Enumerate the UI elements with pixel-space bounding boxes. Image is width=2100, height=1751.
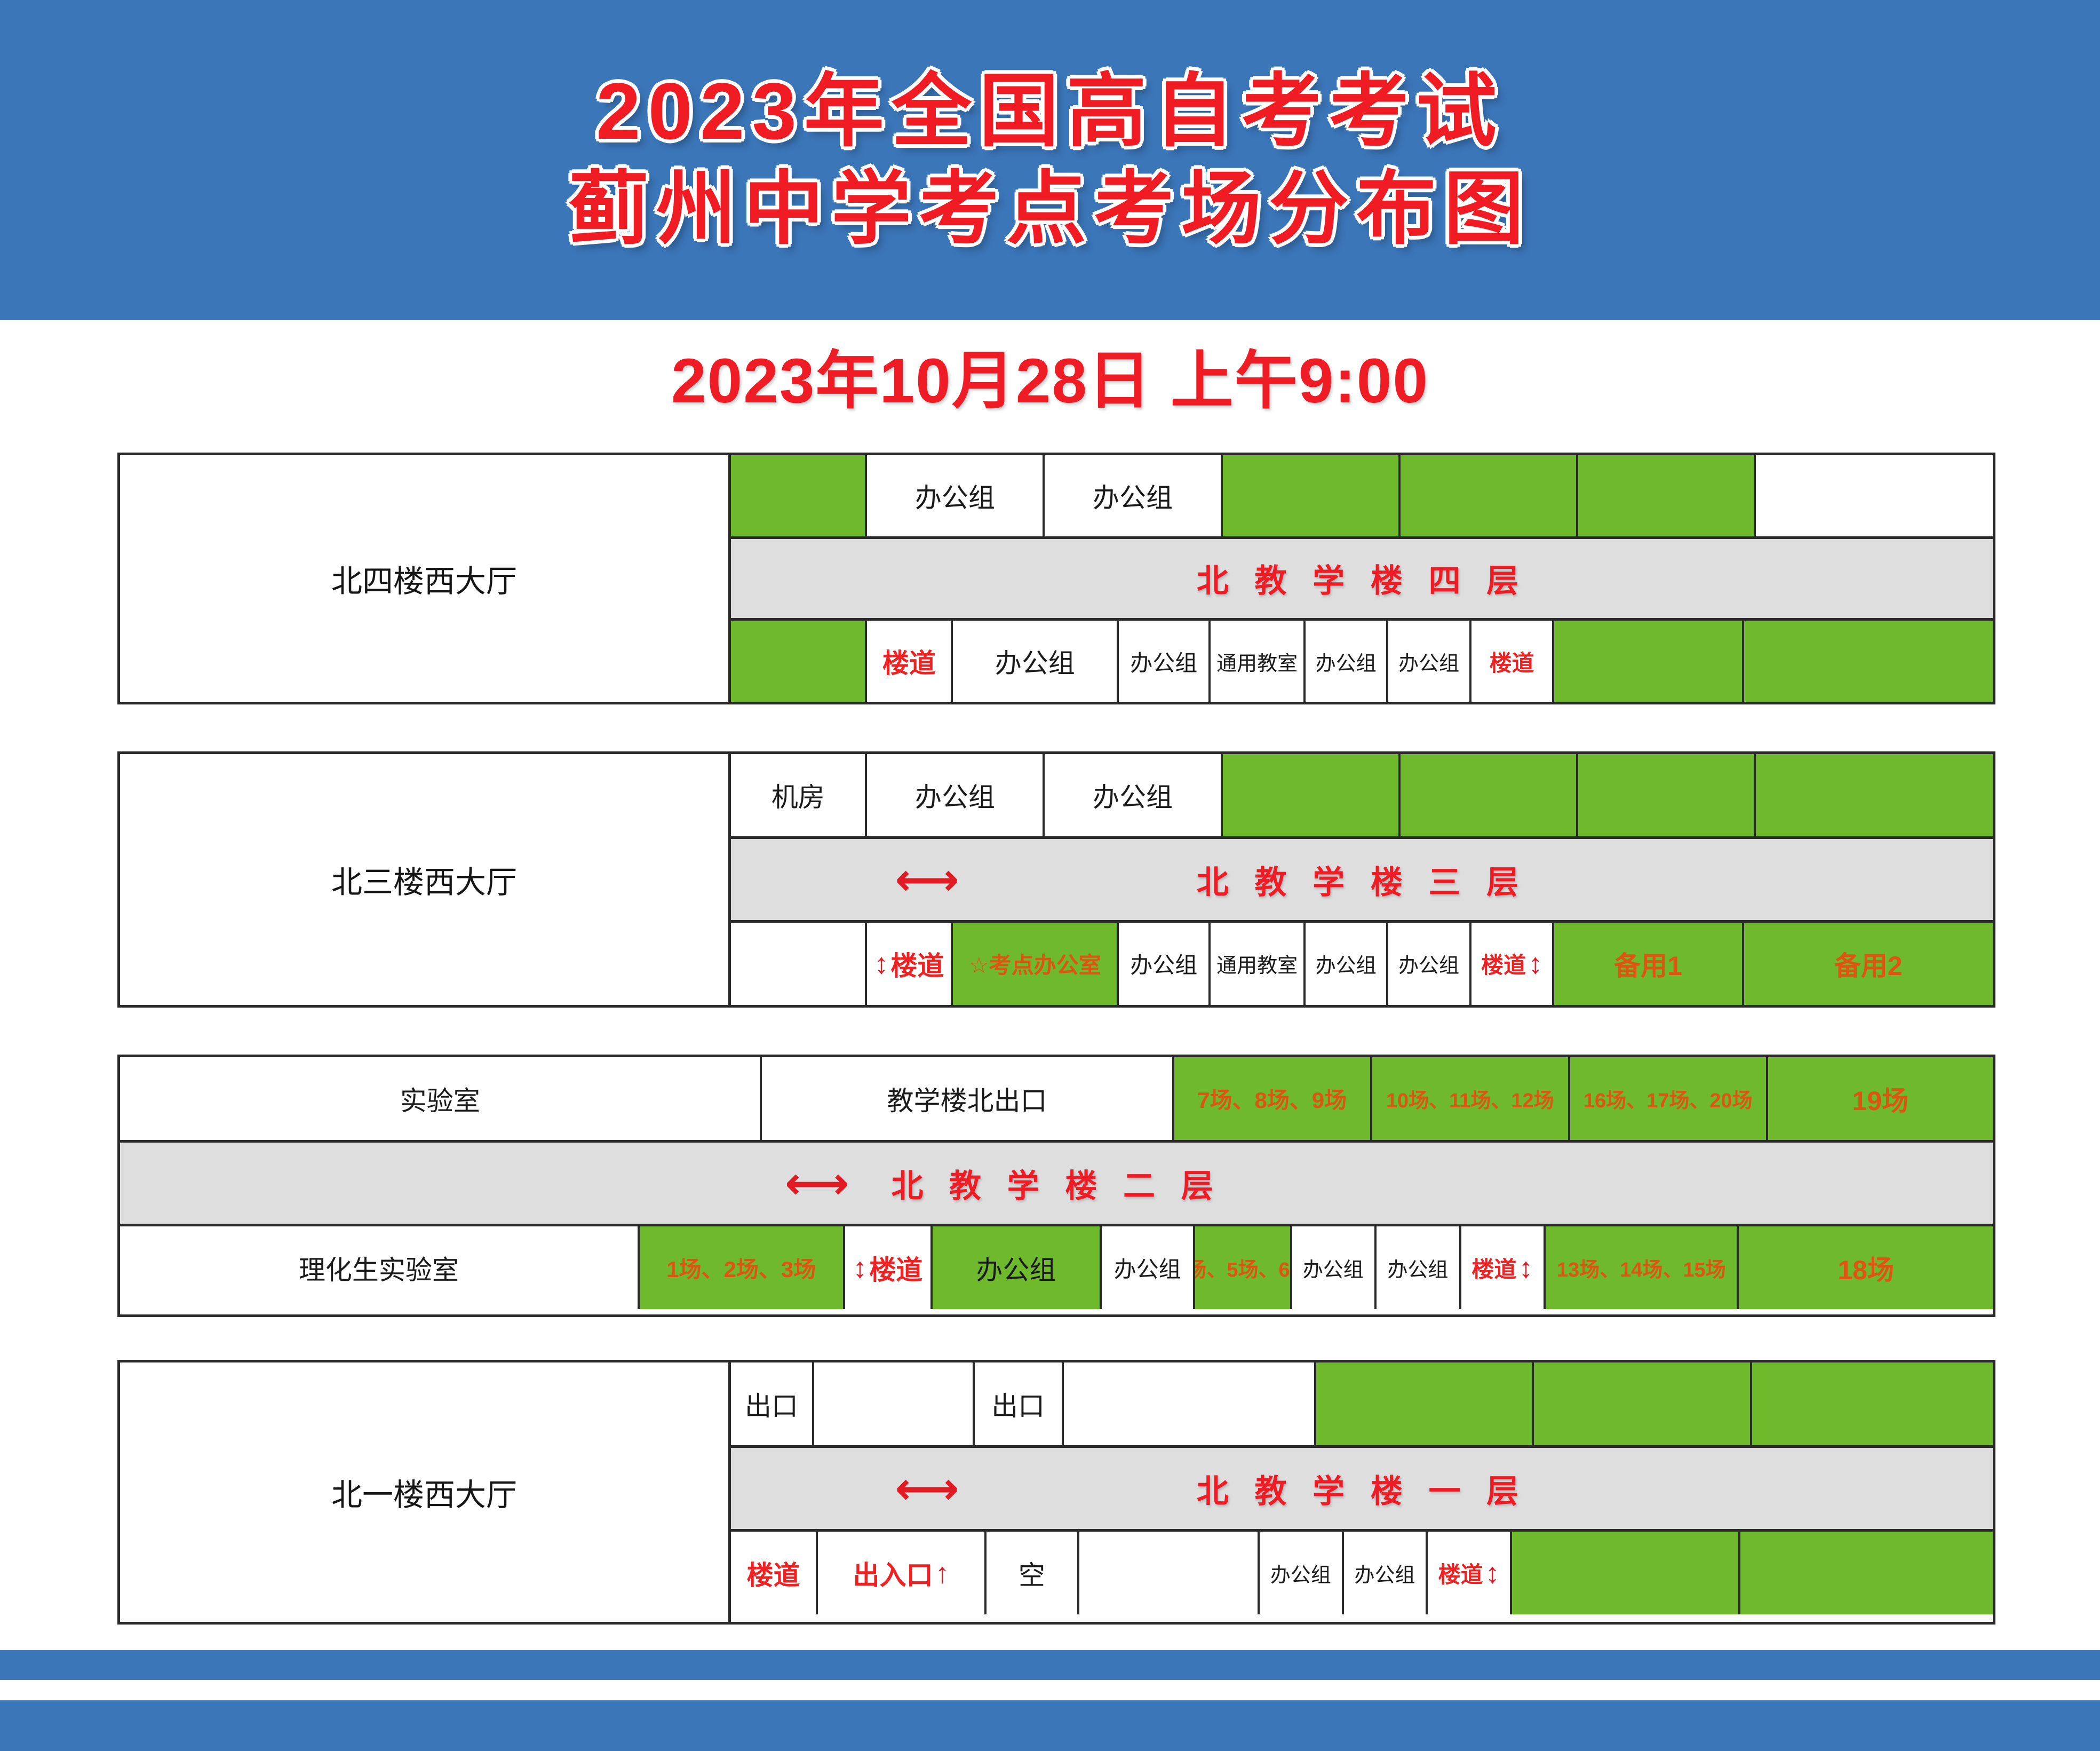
room-cell: 楼道↕	[1428, 1532, 1512, 1614]
room-cell: 机房	[731, 754, 867, 836]
room-cell: 理化生实验室	[120, 1226, 640, 1309]
room-cell-empty	[1578, 455, 1756, 536]
room-cell-label: 办公组	[995, 642, 1075, 680]
room-cell: 7场、8场、9场	[1174, 1057, 1372, 1140]
room-cell: 备用1	[1554, 923, 1744, 1005]
room-cell: 楼道	[867, 621, 953, 702]
floor-layout-wrap: 北三楼西大厅机房办公组办公组⟷北 教 学 楼 三 层↕楼道☆考点办公室办公组通用…	[120, 754, 1993, 1005]
room-cell: 办公组	[1306, 621, 1388, 702]
room-cell: 4场、5场、6场	[1195, 1226, 1292, 1309]
room-cell: 办公组	[1260, 1532, 1344, 1614]
room-cell-empty	[1756, 754, 1993, 836]
room-cell: 实验室	[120, 1057, 762, 1140]
room-cell: 楼道	[731, 1532, 818, 1614]
room-cell-label: 楼道	[1490, 645, 1534, 678]
corridor-strip: ⟷北 教 学 楼 一 层	[731, 1445, 1993, 1532]
west-hall-label: 北三楼西大厅	[331, 857, 517, 902]
room-cell: 办公组	[1119, 923, 1211, 1005]
up-arrow-icon: ↑	[935, 1559, 949, 1588]
room-cell-empty	[731, 923, 867, 1005]
corridor-strip: ⟷北 教 学 楼 二 层	[120, 1140, 1993, 1226]
room-cell: 办公组	[953, 621, 1119, 702]
updown-arrow-icon: ↕	[853, 1254, 867, 1282]
room-cell-label: 办公组	[1303, 1253, 1364, 1282]
room-cell: ↕楼道	[867, 923, 953, 1005]
room-cell-label: 通用教室	[1216, 647, 1298, 676]
room-cell: 办公组	[1388, 923, 1471, 1005]
room-cell-label: 办公组	[915, 477, 995, 515]
west-hall-label: 北一楼西大厅	[331, 1470, 517, 1515]
room-cell-label: 办公组	[915, 776, 995, 814]
room-cell-label: 办公组	[1130, 947, 1197, 980]
room-cell: 空	[987, 1532, 1080, 1614]
poster-title-line-2: 蓟州中学考点考场分布图	[569, 160, 1531, 258]
floor-block-floor-4: 北四楼西大厅办公组办公组北 教 学 楼 四 层楼道办公组办公组通用教室办公组办公…	[117, 453, 1995, 704]
floor-top-row: 办公组办公组	[731, 455, 1993, 536]
room-cell-label: ☆考点办公室	[969, 947, 1101, 980]
room-cell-empty	[1740, 1532, 1993, 1614]
floor-rows-stack: 机房办公组办公组⟷北 教 学 楼 三 层↕楼道☆考点办公室办公组通用教室办公组办…	[731, 754, 1993, 1005]
room-cell-empty	[1079, 1532, 1260, 1614]
room-cell-label: 办公组	[1093, 477, 1173, 515]
west-hall-cell: 北一楼西大厅	[120, 1362, 731, 1622]
room-cell: 1场、2场、3场	[640, 1226, 845, 1309]
updown-arrow-icon: ↕	[874, 949, 888, 978]
room-cell-label: 办公组	[1093, 776, 1173, 814]
room-cell: 13场、14场、15场	[1546, 1226, 1739, 1309]
room-cell-empty	[1756, 455, 1993, 536]
room-cell-empty	[1752, 1362, 1993, 1445]
room-cell: 18场	[1739, 1226, 1993, 1309]
room-cell-label: 10场、11场、12场	[1386, 1084, 1554, 1113]
west-hall-label: 北四楼西大厅	[331, 556, 517, 601]
room-cell: ☆考点办公室	[953, 923, 1119, 1005]
room-cell-label: 楼道	[890, 945, 944, 983]
room-cell-label: 备用1	[1614, 945, 1682, 983]
updown-arrow-icon: ↕	[1528, 949, 1542, 978]
room-cell: 办公组	[1306, 923, 1388, 1005]
west-hall-cell: 北三楼西大厅	[120, 754, 731, 1005]
floor-top-row: 实验室教学楼北出口7场、8场、9场10场、11场、12场16场、17场、20场1…	[120, 1057, 1993, 1140]
bottom-stripe-thin	[0, 1650, 2100, 1680]
floor-block-floor-3: 北三楼西大厅机房办公组办公组⟷北 教 学 楼 三 层↕楼道☆考点办公室办公组通用…	[117, 751, 1995, 1008]
floor-bottom-row: ↕楼道☆考点办公室办公组通用教室办公组办公组楼道↕备用1备用2	[731, 923, 1993, 1005]
room-cell-empty	[1512, 1532, 1740, 1614]
room-cell-label: 办公组	[1114, 1251, 1181, 1284]
floor-rows-stack: 实验室教学楼北出口7场、8场、9场10场、11场、12场16场、17场、20场1…	[120, 1057, 1993, 1314]
room-cell: 办公组	[867, 455, 1045, 536]
updown-arrow-icon: ↕	[1485, 1559, 1500, 1588]
exam-room-map-poster: 2023年全国高自考考试 蓟州中学考点考场分布图 2023年10月28日 上午9…	[0, 0, 2100, 1751]
room-cell: 通用教室	[1211, 621, 1306, 702]
updown-arrow-icon: ↕	[1518, 1254, 1533, 1282]
room-cell-label: 办公组	[976, 1249, 1056, 1287]
bottom-stripe-thick	[0, 1700, 2100, 1751]
west-hall-cell: 北四楼西大厅	[120, 455, 731, 702]
room-cell-label: 楼道	[1481, 947, 1526, 980]
corridor-strip: 北 教 学 楼 四 层	[731, 536, 1993, 621]
room-cell: 办公组	[1119, 621, 1211, 702]
room-cell-label: 实验室	[400, 1080, 480, 1118]
poster-header-banner: 2023年全国高自考考试 蓟州中学考点考场分布图	[0, 0, 2100, 320]
floor-rows-stack: 办公组办公组北 教 学 楼 四 层楼道办公组办公组通用教室办公组办公组楼道	[731, 455, 1993, 702]
room-cell-label: 楼道	[882, 642, 936, 680]
room-cell-empty	[1578, 754, 1756, 836]
room-cell-label: 办公组	[1270, 1558, 1331, 1588]
room-cell-empty	[1223, 455, 1401, 536]
room-cell-label: 办公组	[1130, 645, 1197, 678]
room-cell-label: 4场、5场、6场	[1195, 1253, 1292, 1282]
room-cell-empty	[1744, 621, 1993, 702]
room-cell-label: 出入口	[853, 1554, 933, 1592]
room-cell-label: 机房	[771, 776, 825, 814]
room-cell-label: 出口	[991, 1385, 1045, 1423]
room-cell-label: 通用教室	[1216, 949, 1298, 978]
floor-top-row: 机房办公组办公组	[731, 754, 1993, 836]
corridor-strip: ⟷北 教 学 楼 三 层	[731, 836, 1993, 922]
room-cell-label: 16场、17场、20场	[1584, 1084, 1753, 1113]
room-cell-label: 楼道	[869, 1249, 922, 1287]
room-cell-label: 13场、14场、15场	[1557, 1253, 1726, 1282]
room-cell: 办公组	[1045, 455, 1222, 536]
room-cell-label: 空	[1019, 1554, 1045, 1592]
room-cell-label: 18场	[1837, 1249, 1894, 1287]
floor-layout-wrap: 北一楼西大厅出口出口⟷北 教 学 楼 一 层楼道出入口↑空办公组办公组楼道↕	[120, 1362, 1993, 1622]
room-cell-empty	[814, 1362, 975, 1445]
room-cell-label: 办公组	[1398, 647, 1459, 676]
room-cell: 办公组	[1388, 621, 1471, 702]
room-cell-label: 办公组	[1398, 949, 1459, 978]
room-cell: 办公组	[1102, 1226, 1196, 1309]
room-cell-label: 1场、2场、3场	[666, 1251, 816, 1284]
poster-title-line-1: 2023年全国高自考考试	[596, 62, 1504, 160]
floor-top-row: 出口出口	[731, 1362, 1993, 1445]
room-cell-label: 7场、8场、9场	[1197, 1082, 1347, 1115]
floor-block-floor-1: 北一楼西大厅出口出口⟷北 教 学 楼 一 层楼道出入口↑空办公组办公组楼道↕	[117, 1360, 1995, 1625]
room-cell: 出入口↑	[818, 1532, 986, 1614]
exam-datetime-text: 2023年10月28日 上午9:00	[671, 329, 1429, 421]
room-cell-empty	[1064, 1362, 1316, 1445]
room-cell: 通用教室	[1211, 923, 1306, 1005]
room-cell: ↕楼道	[845, 1226, 933, 1309]
room-cell-label: 出口	[745, 1385, 798, 1423]
room-cell: 10场、11场、12场	[1372, 1057, 1570, 1140]
corridor-label: 北 教 学 楼 三 层	[731, 857, 1993, 903]
floor-bottom-row: 楼道出入口↑空办公组办公组楼道↕	[731, 1532, 1993, 1614]
room-cell-empty	[1401, 455, 1578, 536]
floor-bottom-row: 楼道办公组办公组通用教室办公组办公组楼道	[731, 621, 1993, 702]
room-cell: 19场	[1768, 1057, 1993, 1140]
room-cell-empty	[1534, 1362, 1752, 1445]
floor-block-floor-2: 实验室教学楼北出口7场、8场、9场10场、11场、12场16场、17场、20场1…	[117, 1055, 1995, 1317]
room-cell: 办公组	[1377, 1226, 1461, 1309]
room-cell: 办公组	[867, 754, 1045, 836]
room-cell: 出口	[975, 1362, 1064, 1445]
room-cell: 16场、17场、20场	[1570, 1057, 1768, 1140]
room-cell-empty	[1554, 621, 1744, 702]
room-cell: 办公组	[1045, 754, 1222, 836]
room-cell-label: 楼道	[1471, 1251, 1516, 1284]
room-cell: 楼道	[1471, 621, 1554, 702]
room-cell-label: 办公组	[1354, 1558, 1415, 1588]
room-cell-empty	[1223, 754, 1401, 836]
floor-rows-stack: 出口出口⟷北 教 学 楼 一 层楼道出入口↑空办公组办公组楼道↕	[731, 1362, 1993, 1622]
room-cell: 办公组	[1344, 1532, 1428, 1614]
floor-bottom-row: 理化生实验室1场、2场、3场↕楼道办公组办公组4场、5场、6场办公组办公组楼道↕…	[120, 1226, 1993, 1309]
exam-datetime-row: 2023年10月28日 上午9:00	[0, 327, 2100, 423]
corridor-label: 北 教 学 楼 四 层	[731, 555, 1993, 601]
room-cell-empty	[1401, 754, 1578, 836]
corridor-label: 北 教 学 楼 二 层	[120, 1160, 1993, 1207]
room-cell-label: 理化生实验室	[299, 1249, 459, 1287]
room-cell-label: 楼道	[1438, 1557, 1483, 1589]
room-cell: 办公组	[1292, 1226, 1377, 1309]
room-cell-label: 办公组	[1316, 647, 1377, 676]
room-cell: 楼道↕	[1471, 923, 1554, 1005]
room-cell-label: 办公组	[1316, 949, 1377, 978]
room-cell-label: 教学楼北出口	[887, 1080, 1047, 1118]
room-cell-label: 备用2	[1834, 945, 1903, 983]
floor-layout-wrap: 北四楼西大厅办公组办公组北 教 学 楼 四 层楼道办公组办公组通用教室办公组办公…	[120, 455, 1993, 702]
room-cell: 办公组	[933, 1226, 1102, 1309]
room-cell-label: 19场	[1852, 1080, 1909, 1118]
room-cell: 楼道↕	[1461, 1226, 1546, 1309]
room-cell-label: 楼道	[747, 1554, 800, 1592]
room-cell-empty	[731, 455, 867, 536]
room-cell-empty	[731, 621, 867, 702]
room-cell-label: 办公组	[1387, 1253, 1448, 1282]
room-cell: 备用2	[1744, 923, 1993, 1005]
room-cell: 出口	[731, 1362, 814, 1445]
room-cell: 教学楼北出口	[762, 1057, 1174, 1140]
corridor-label: 北 教 学 楼 一 层	[731, 1465, 1993, 1512]
room-cell-empty	[1316, 1362, 1534, 1445]
